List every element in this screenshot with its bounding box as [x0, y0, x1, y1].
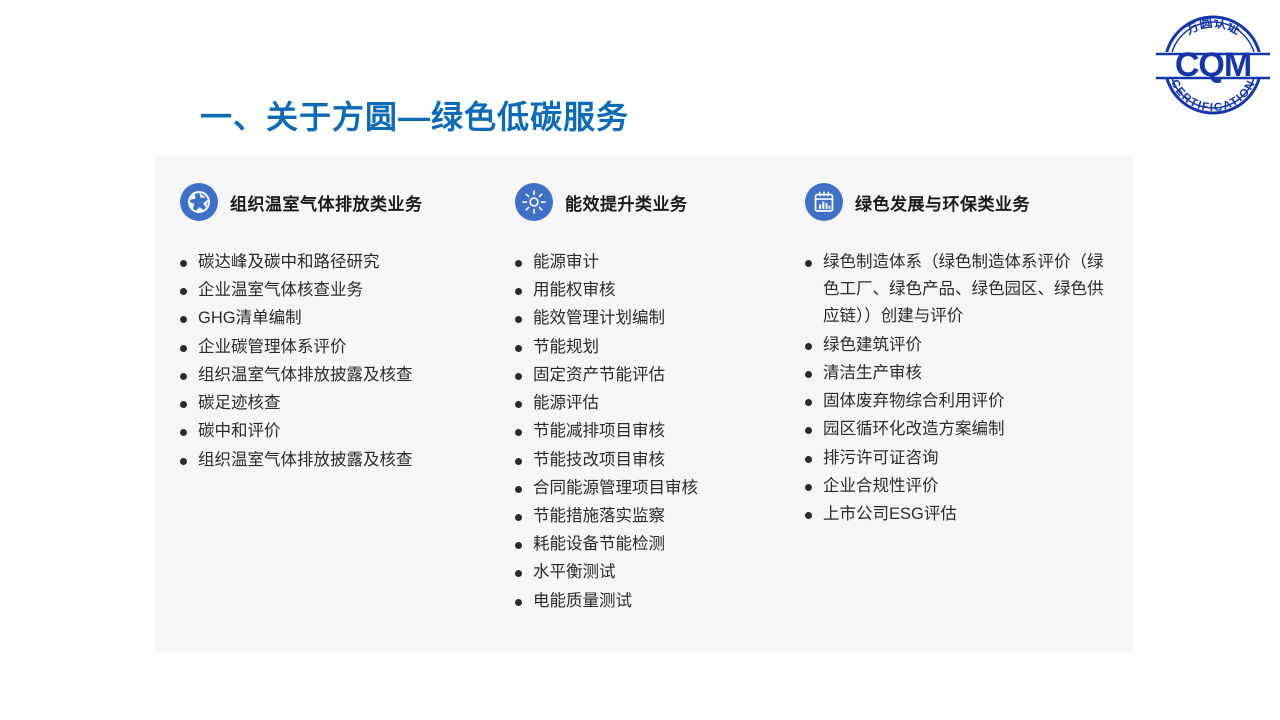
list-item: 能效管理计划编制	[515, 305, 785, 332]
list-item: 企业温室气体核查业务	[180, 277, 510, 304]
list-item: GHG清单编制	[180, 305, 510, 332]
service-list: 碳达峰及碳中和路径研究 企业温室气体核查业务 GHG清单编制 企业碳管理体系评价…	[180, 249, 510, 474]
list-item: 碳达峰及碳中和路径研究	[180, 249, 510, 276]
column-header: 能效提升类业务	[515, 183, 785, 221]
column-title: 绿色发展与环保类业务	[855, 190, 1030, 215]
list-item: 碳足迹核查	[180, 390, 510, 417]
service-list: 能源审计 用能权审核 能效管理计划编制 节能规划 固定资产节能评估 能源评估 节…	[515, 249, 785, 615]
list-item: 绿色制造体系（绿色制造体系评价（绿色工厂、绿色产品、绿色园区、绿色供应链））创建…	[805, 249, 1115, 331]
sun-icon	[515, 183, 553, 221]
service-list: 绿色制造体系（绿色制造体系评价（绿色工厂、绿色产品、绿色园区、绿色供应链））创建…	[805, 249, 1115, 528]
list-item: 组织温室气体排放披露及核查	[180, 447, 510, 474]
list-item: 节能规划	[515, 334, 785, 361]
list-item: 节能措施落实监察	[515, 503, 785, 530]
list-item: 排污许可证咨询	[805, 445, 1115, 472]
list-item: 企业碳管理体系评价	[180, 334, 510, 361]
list-item: 能源评估	[515, 390, 785, 417]
list-item: 固体废弃物综合利用评价	[805, 388, 1115, 415]
service-column-green-development: 绿色发展与环保类业务 绿色制造体系（绿色制造体系评价（绿色工厂、绿色产品、绿色园…	[805, 183, 1115, 529]
column-header: 绿色发展与环保类业务	[805, 183, 1115, 221]
list-item: 组织温室气体排放披露及核查	[180, 362, 510, 389]
list-item: 清洁生产审核	[805, 360, 1115, 387]
service-column-energy-efficiency: 能效提升类业务 能源审计 用能权审核 能效管理计划编制 节能规划 固定资产节能评…	[515, 183, 785, 616]
column-header: 组织温室气体排放类业务	[180, 183, 510, 221]
list-item: 碳中和评价	[180, 418, 510, 445]
list-item: 绿色建筑评价	[805, 332, 1115, 359]
service-column-greenhouse-gas: 组织温室气体排放类业务 碳达峰及碳中和路径研究 企业温室气体核查业务 GHG清单…	[180, 183, 510, 475]
list-item: 合同能源管理项目审核	[515, 475, 785, 502]
list-item: 节能技改项目审核	[515, 447, 785, 474]
column-title: 能效提升类业务	[565, 190, 688, 215]
list-item: 耗能设备节能检测	[515, 531, 785, 558]
list-item: 水平衡测试	[515, 559, 785, 586]
list-item: 电能质量测试	[515, 588, 785, 615]
list-item: 上市公司ESG评估	[805, 501, 1115, 528]
content-panel: 组织温室气体排放类业务 碳达峰及碳中和路径研究 企业温室气体核查业务 GHG清单…	[155, 155, 1133, 653]
list-item: 能源审计	[515, 249, 785, 276]
service-columns: 组织温室气体排放类业务 碳达峰及碳中和路径研究 企业温室气体核查业务 GHG清单…	[155, 155, 1133, 653]
list-item: 固定资产节能评估	[515, 362, 785, 389]
slide-root: 方圆认证 CERTIFICATION CQM 一、关于方圆—绿色低碳服务	[0, 0, 1280, 720]
column-title: 组织温室气体排放类业务	[230, 190, 423, 215]
cqm-certification-logo: 方圆认证 CERTIFICATION CQM	[1154, 6, 1272, 124]
calendar-chart-icon	[805, 183, 843, 221]
aperture-icon	[180, 183, 218, 221]
list-item: 用能权审核	[515, 277, 785, 304]
list-item: 企业合规性评价	[805, 473, 1115, 500]
list-item: 节能减排项目审核	[515, 418, 785, 445]
list-item: 园区循环化改造方案编制	[805, 416, 1115, 443]
page-title: 一、关于方圆—绿色低碳服务	[200, 92, 629, 138]
